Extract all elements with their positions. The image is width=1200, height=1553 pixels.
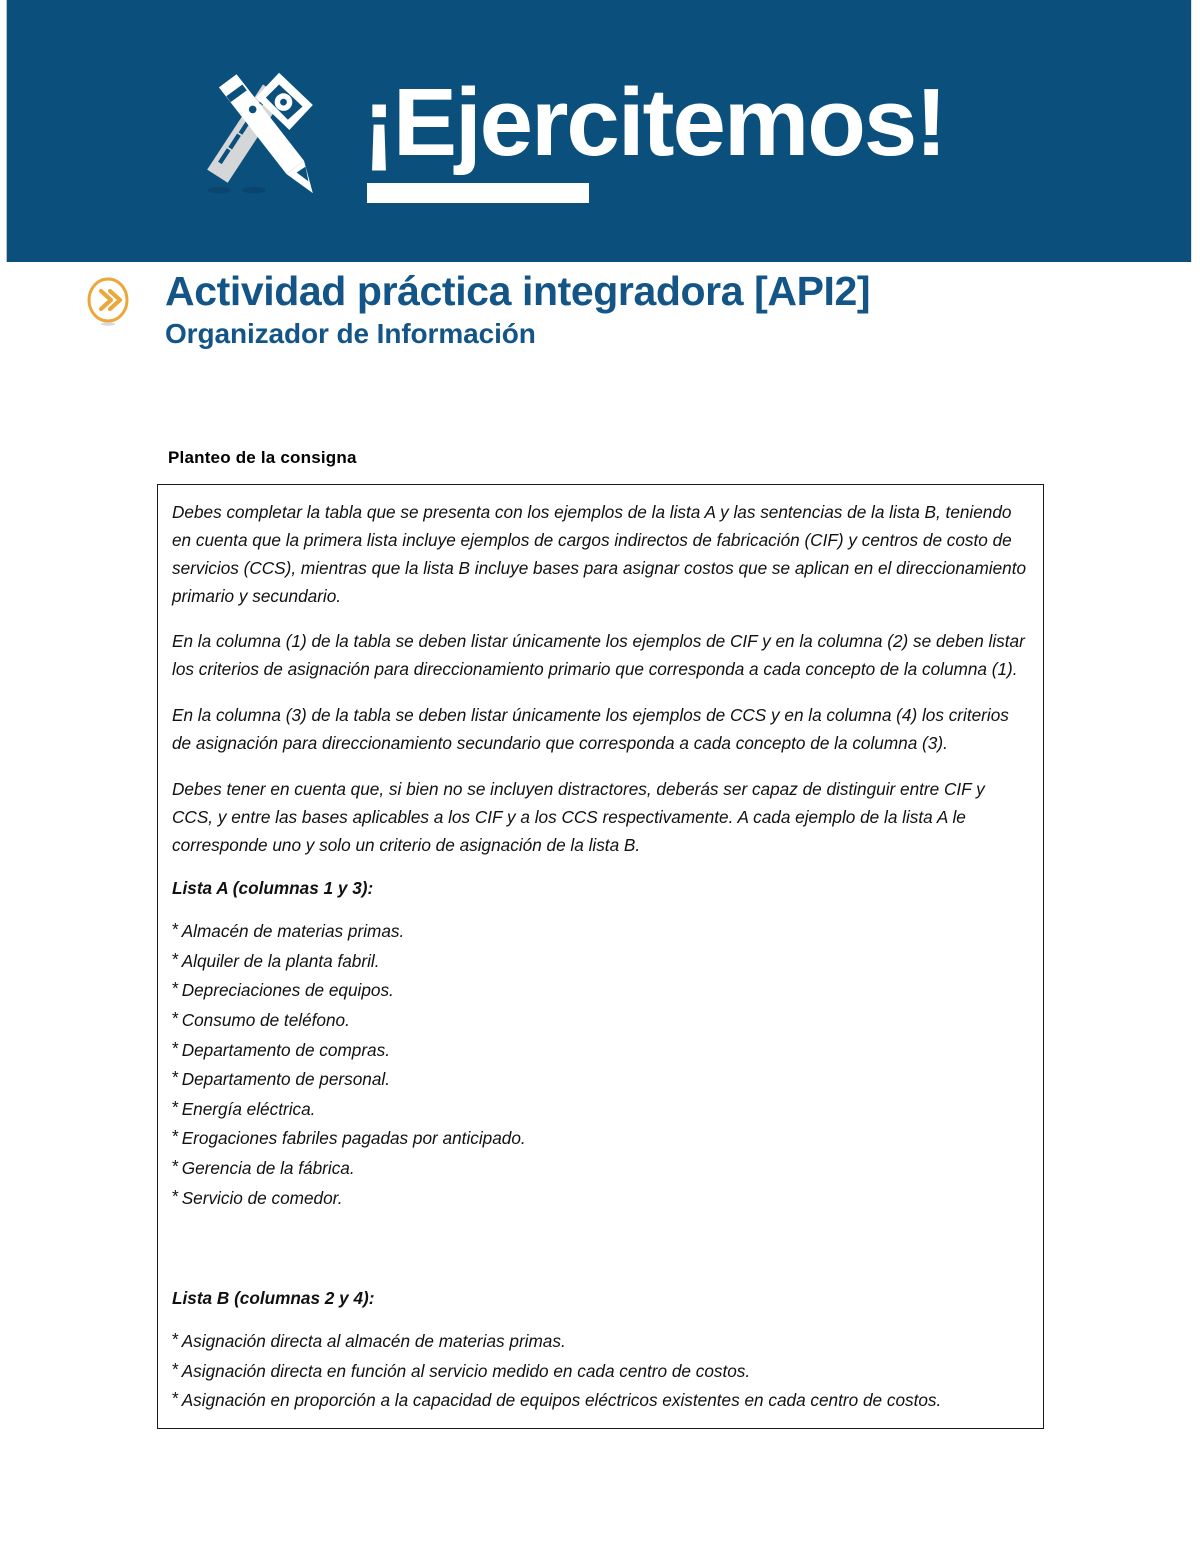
consigna-paragraph: En la columna (3) de la tabla se deben l… xyxy=(172,702,1027,758)
list-item: *Alquiler de la planta fabril. xyxy=(172,947,1027,977)
list-item-label: Alquiler de la planta fabril. xyxy=(182,951,380,971)
consigna-box: Debes completar la tabla que se presenta… xyxy=(157,484,1044,1429)
list-item: *Servicio de comedor. xyxy=(172,1184,1027,1214)
list-item: *Almacén de materias primas. xyxy=(172,917,1027,947)
list-item: *Depreciaciones de equipos. xyxy=(172,976,1027,1006)
list-item-label: Depreciaciones de equipos. xyxy=(182,980,394,1000)
lista-b-items: *Asignación directa al almacén de materi… xyxy=(172,1327,1027,1416)
list-item-label: Departamento de personal. xyxy=(182,1069,390,1089)
pencil-ruler-icon xyxy=(185,61,335,196)
bullet-star: * xyxy=(172,1359,179,1379)
bullet-star: * xyxy=(172,1329,179,1349)
list-item-label: Gerencia de la fábrica. xyxy=(182,1158,355,1178)
list-spacer xyxy=(172,1213,1027,1285)
list-item: *Asignación directa al almacén de materi… xyxy=(172,1327,1027,1357)
list-item: *Energía eléctrica. xyxy=(172,1095,1027,1125)
bullet-star: * xyxy=(172,1038,179,1058)
list-item-label: Consumo de teléfono. xyxy=(182,1010,350,1030)
list-item-label: Servicio de comedor. xyxy=(182,1188,343,1208)
list-item-label: Asignación directa en función al servici… xyxy=(182,1361,750,1381)
list-item-label: Asignación directa al almacén de materia… xyxy=(182,1331,566,1351)
section-heading: Planteo de la consigna xyxy=(168,448,357,468)
list-item: *Asignación en proporción a la capacidad… xyxy=(172,1386,1027,1416)
bullet-star: * xyxy=(172,1388,179,1408)
list-item: *Departamento de compras. xyxy=(172,1036,1027,1066)
list-item: *Asignación directa en función al servic… xyxy=(172,1357,1027,1387)
consigna-paragraph: Debes tener en cuenta que, si bien no se… xyxy=(172,776,1027,860)
list-item: *Erogaciones fabriles pagadas por antici… xyxy=(172,1124,1027,1154)
lista-a-items: *Almacén de materias primas. *Alquiler d… xyxy=(172,917,1027,1213)
page-title: Actividad práctica integradora [API2] xyxy=(165,268,870,315)
banner-title: ¡Ejercitemos! xyxy=(363,75,945,181)
list-item: *Departamento de personal. xyxy=(172,1065,1027,1095)
bullet-star: * xyxy=(172,978,179,998)
bullet-star: * xyxy=(172,1186,179,1206)
lista-b-label: Lista B (columnas 2 y 4): xyxy=(172,1285,1027,1313)
list-item: *Consumo de teléfono. xyxy=(172,1006,1027,1036)
list-item-label: Asignación en proporción a la capacidad … xyxy=(182,1390,942,1410)
bullet-star: * xyxy=(172,919,179,939)
bullet-star: * xyxy=(172,1156,179,1176)
page-subtitle: Organizador de Información xyxy=(165,318,536,350)
double-chevron-right-icon xyxy=(82,276,134,328)
bullet-star: * xyxy=(172,1126,179,1146)
list-item-label: Almacén de materias primas. xyxy=(182,921,405,941)
list-item-label: Energía eléctrica. xyxy=(182,1099,316,1119)
list-item: *Gerencia de la fábrica. xyxy=(172,1154,1027,1184)
bullet-star: * xyxy=(172,1067,179,1087)
bullet-star: * xyxy=(172,1097,179,1117)
consigna-paragraph: En la columna (1) de la tabla se deben l… xyxy=(172,628,1027,684)
header-banner: ¡Ejercitemos! xyxy=(6,0,1192,262)
bullet-star: * xyxy=(172,949,179,969)
banner-content: ¡Ejercitemos! xyxy=(185,61,945,196)
list-item-label: Departamento de compras. xyxy=(182,1040,390,1060)
list-item-label: Erogaciones fabriles pagadas por anticip… xyxy=(182,1128,526,1148)
consigna-paragraph: Debes completar la tabla que se presenta… xyxy=(172,499,1027,610)
bullet-star: * xyxy=(172,1008,179,1028)
lista-a-label: Lista A (columnas 1 y 3): xyxy=(172,875,1027,903)
